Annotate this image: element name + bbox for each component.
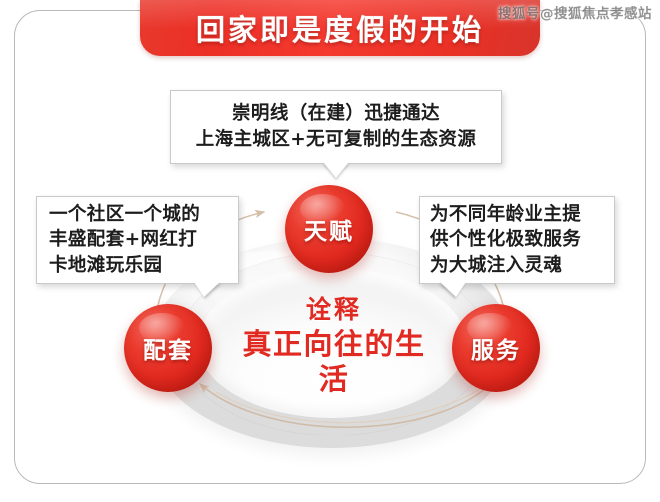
node-tianfu-label: 天赋 bbox=[304, 212, 354, 246]
callout-fuwu-text: 为不同年龄业主提 供个性化极致服务 为大城注入灵魂 bbox=[430, 202, 581, 279]
callout-peitao: 一个社区一个城的 丰盛配套+网红打 卡地滩玩乐园 bbox=[36, 196, 239, 284]
callout-tianfu-line2: 上海主城区+无可复制的生态资源 bbox=[196, 127, 477, 153]
callout-tianfu-text: 崇明线（在建）迅捷通达 上海主城区+无可复制的生态资源 bbox=[196, 101, 477, 152]
node-peitao[interactable]: 配套 bbox=[124, 304, 212, 392]
callout-fuwu-tail bbox=[440, 282, 466, 297]
title-banner: 回家即是度假的开始 bbox=[140, 0, 540, 56]
callout-fuwu-line3: 为大城注入灵魂 bbox=[430, 253, 581, 279]
callout-peitao-line3: 卡地滩玩乐园 bbox=[49, 253, 200, 279]
callout-peitao-text: 一个社区一个城的 丰盛配套+网红打 卡地滩玩乐园 bbox=[49, 202, 200, 279]
callout-tianfu-line1: 崇明线（在建）迅捷通达 bbox=[196, 101, 477, 127]
infographic-page: 回家即是度假的开始 搜狐号@搜狐焦点孝感站 诠释 真正向往的生活 bbox=[0, 0, 660, 502]
callout-fuwu: 为不同年龄业主提 供个性化极致服务 为大城注入灵魂 bbox=[419, 196, 615, 284]
node-fuwu[interactable]: 服务 bbox=[452, 304, 540, 392]
watermark-label: 搜狐号@搜狐焦点孝感站 bbox=[498, 2, 652, 22]
node-peitao-label: 配套 bbox=[143, 331, 193, 365]
callout-tianfu-tail bbox=[323, 162, 349, 178]
node-tianfu[interactable]: 天赋 bbox=[285, 185, 373, 273]
center-slogan-line1: 诠释 bbox=[228, 296, 440, 325]
page-title: 回家即是度假的开始 bbox=[196, 7, 484, 49]
callout-peitao-tail bbox=[194, 282, 220, 297]
callout-peitao-line1: 一个社区一个城的 bbox=[49, 202, 200, 228]
callout-peitao-line2: 丰盛配套+网红打 bbox=[49, 227, 200, 253]
callout-fuwu-line1: 为不同年龄业主提 bbox=[430, 202, 581, 228]
node-fuwu-label: 服务 bbox=[471, 331, 521, 365]
center-slogan: 诠释 真正向往的生活 bbox=[228, 296, 440, 396]
center-slogan-line2: 真正向往的生活 bbox=[228, 327, 440, 397]
callout-tianfu: 崇明线（在建）迅捷通达 上海主城区+无可复制的生态资源 bbox=[170, 90, 502, 164]
callout-fuwu-line2: 供个性化极致服务 bbox=[430, 227, 581, 253]
